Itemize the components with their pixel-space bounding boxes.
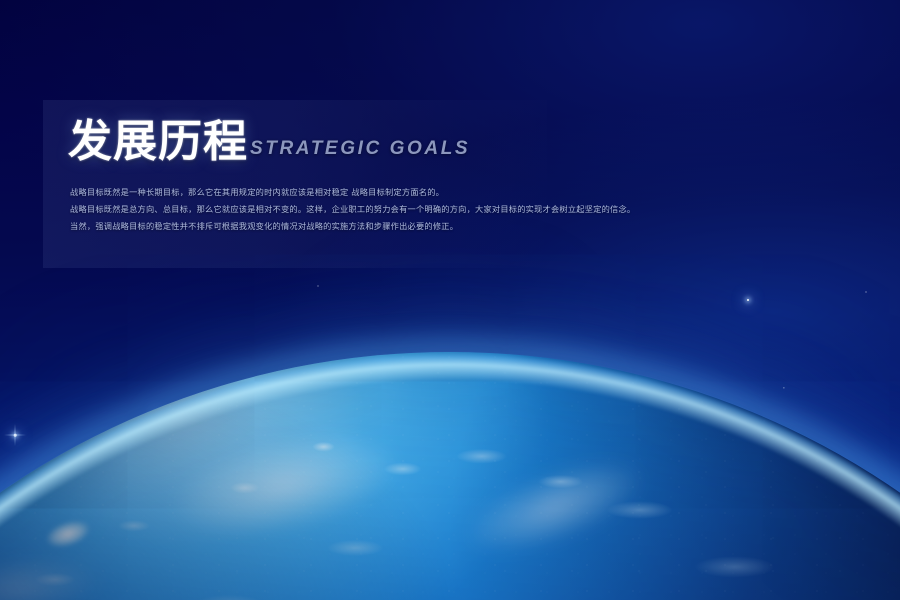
space-background [0, 0, 900, 600]
copy-line: 战略目标既然是总方向、总目标，那么它就应该是相对不变的。这样，企业职工的努力会有… [70, 201, 540, 218]
banner-stage: 发展历程 STRATEGIC GOALS 战略目标既然是一种长期目标，那么它在其… [0, 0, 900, 600]
page-subtitle: STRATEGIC GOALS [250, 139, 470, 158]
copy-line: 战略目标既然是一种长期目标，那么它在其用规定的时内就应该是相对稳定 战略目标制定… [70, 184, 540, 201]
headline: 发展历程 STRATEGIC GOALS [68, 120, 470, 164]
copy-line: 当然，强调战略目标的稳定性并不排斥可根据我观变化的情况对战略的实施方法和步骤作出… [70, 218, 540, 235]
page-title: 发展历程 [68, 120, 248, 164]
body-copy: 战略目标既然是一种长期目标，那么它在其用规定的时内就应该是相对稳定 战略目标制定… [70, 184, 540, 235]
